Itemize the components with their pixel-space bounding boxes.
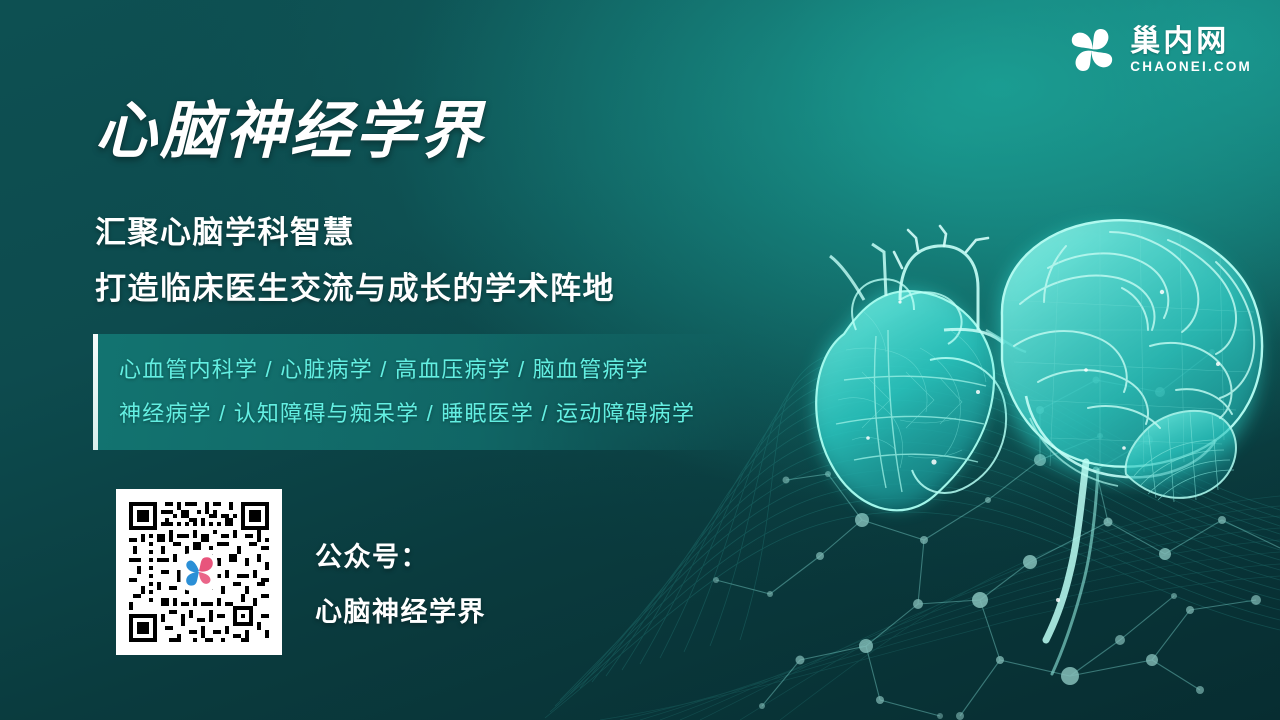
subtitle-line-2: 打造临床医生交流与成长的学术阵地: [95, 261, 615, 317]
specialties-list: 心血管内科学 / 心脏病学 / 高血压病学 / 脑血管病学 神经病学 / 认知障…: [93, 348, 695, 435]
molecular-network-icon: [713, 349, 1280, 720]
specialties-panel: 心血管内科学 / 心脏病学 / 高血压病学 / 脑血管病学 神经病学 / 认知障…: [93, 334, 793, 450]
subtitle-line-1: 汇聚心脑学科智慧: [95, 205, 615, 261]
page-title: 心脑神经学界: [95, 80, 485, 170]
qr-code-card[interactable]: [116, 489, 282, 655]
heart-wireframe-icon: [815, 226, 1026, 510]
panel-accent-bar: [93, 334, 98, 450]
specialties-line-2: 神经病学 / 认知障碍与痴呆学 / 睡眠医学 / 运动障碍病学: [119, 392, 695, 436]
logo-name-cn: 巢内网: [1130, 27, 1229, 57]
subtitle-block: 汇聚心脑学科智慧 打造临床医生交流与成长的学术阵地: [95, 205, 615, 318]
logo-name-en: CHAONEI.COM: [1130, 60, 1252, 74]
wechat-label: 公众号：: [315, 530, 486, 585]
wechat-account-block: 公众号： 心脑神经学界: [315, 530, 486, 641]
wechat-account-name: 心脑神经学界: [315, 585, 486, 640]
specialties-line-1: 心血管内科学 / 心脏病学 / 高血压病学 / 脑血管病学: [119, 348, 695, 392]
site-logo[interactable]: 巢内网 CHAONEI.COM: [1066, 24, 1252, 76]
chaonei-butterfly-icon: [1066, 24, 1118, 76]
poster-banner: 巢内网 CHAONEI.COM 心脑神经学界 汇聚心脑学科智慧 打造临床医生交流…: [0, 0, 1280, 720]
qr-code-icon: [125, 498, 273, 646]
butterfly-logo-icon: [182, 555, 216, 589]
brain-wireframe-icon: [997, 220, 1262, 674]
